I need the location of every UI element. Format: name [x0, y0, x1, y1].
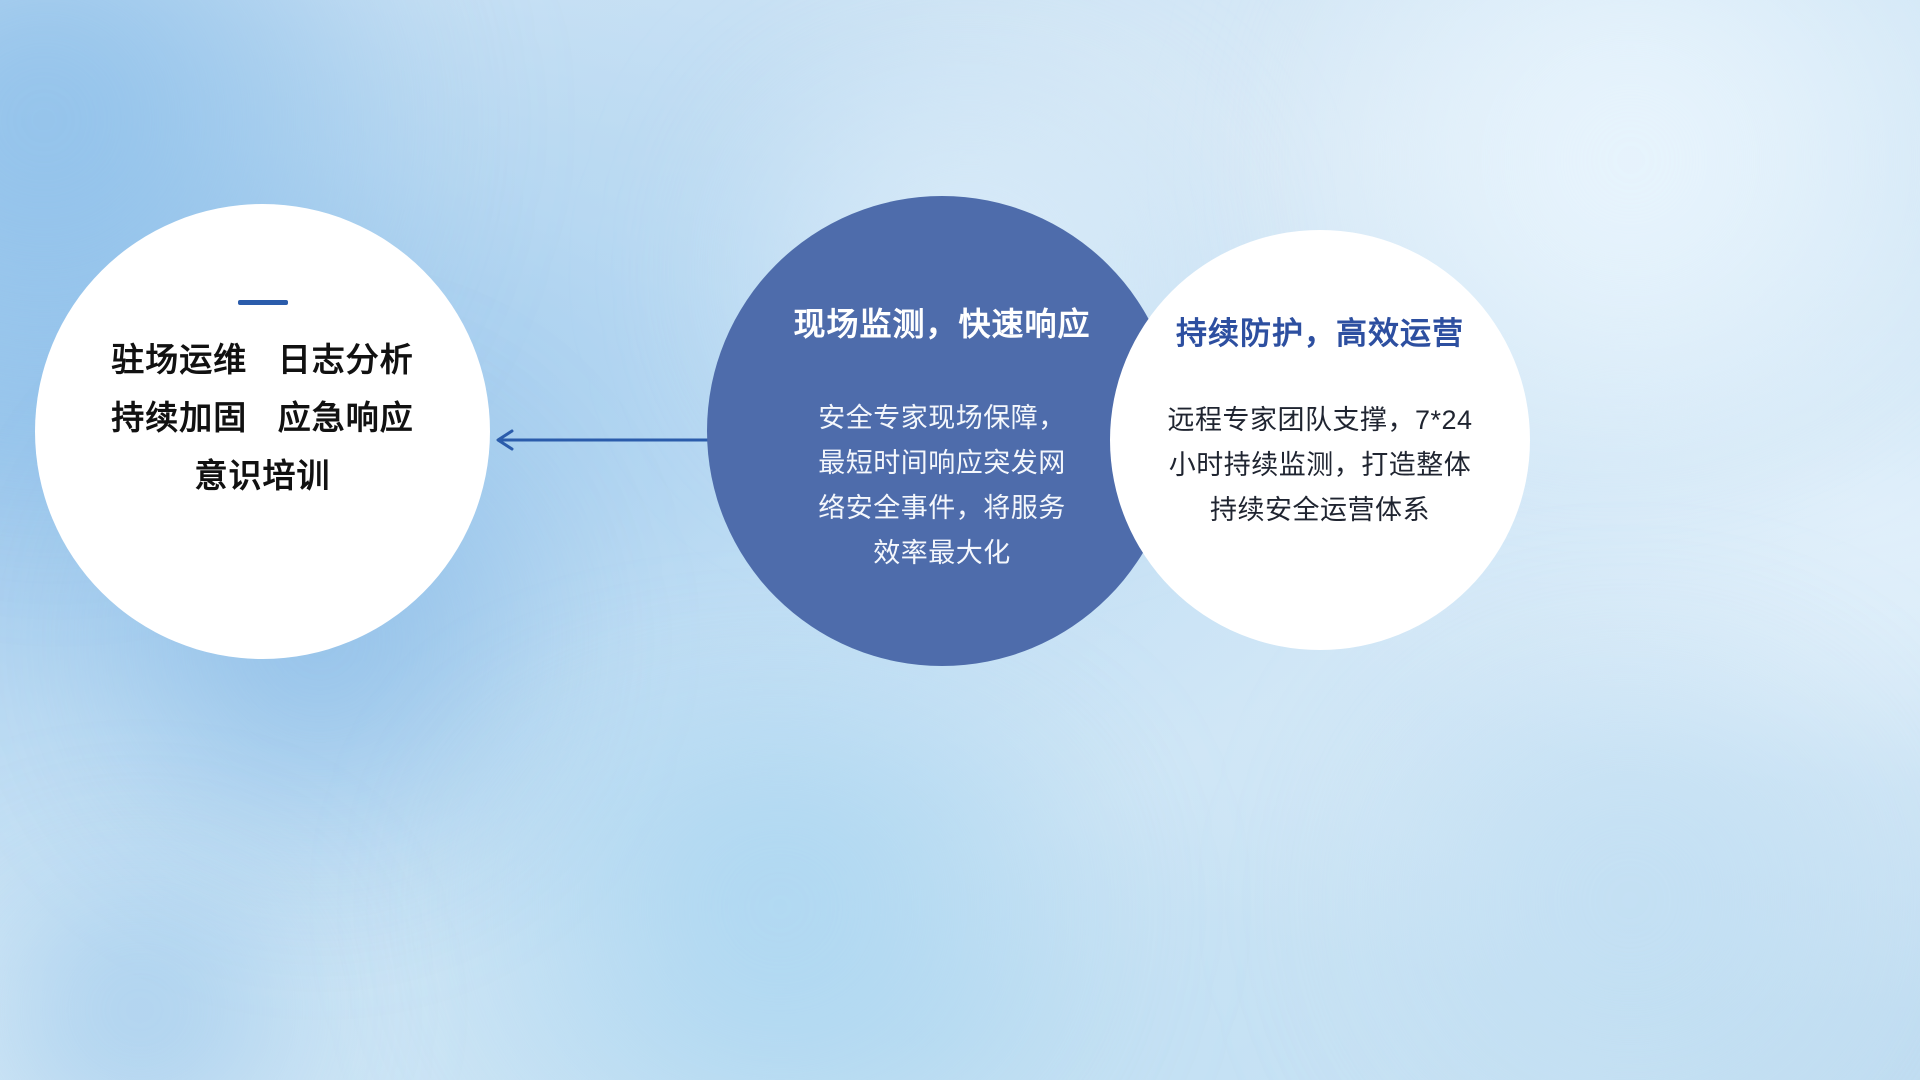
left-keyword-line-3: 意识培训: [35, 459, 490, 492]
middle-onsite-circle[interactable]: 现场监测，快速响应 安全专家现场保障， 最短时间响应突发网 络安全事件，将服务 …: [707, 196, 1177, 666]
middle-circle-title: 现场监测，快速响应: [707, 299, 1177, 345]
middle-body-line-3: 络安全事件，将服务: [754, 486, 1130, 531]
arrow-left-icon: [480, 420, 730, 460]
middle-body-line-1: 安全专家现场保障，: [754, 396, 1130, 441]
background-blob: [1250, 640, 1920, 1080]
background-blob: [330, 700, 1230, 1080]
right-body-line-2: 小时持续监测，打造整体: [1132, 443, 1508, 488]
right-body-line-3: 持续安全运营体系: [1132, 488, 1508, 533]
right-circle-title: 持续防护，高效运营: [1110, 308, 1530, 353]
right-body-line-1: 远程专家团队支撑，7*24: [1132, 398, 1508, 443]
divider-dash-icon: [238, 300, 288, 305]
middle-body-line-4: 效率最大化: [754, 531, 1130, 576]
right-operations-circle[interactable]: 持续防护，高效运营 远程专家团队支撑，7*24 小时持续监测，打造整体 持续安全…: [1110, 230, 1530, 650]
slide-canvas: 驻场运维 日志分析 持续加固 应急响应 意识培训 现场监测，快速响应 安全专家现…: [0, 0, 1920, 1080]
left-keyword-line-2: 持续加固 应急响应: [35, 401, 490, 434]
middle-body-line-2: 最短时间响应突发网: [754, 441, 1130, 486]
left-capability-circle[interactable]: 驻场运维 日志分析 持续加固 应急响应 意识培训: [35, 204, 490, 659]
left-keyword-line-1: 驻场运维 日志分析: [35, 343, 490, 376]
right-circle-body: 远程专家团队支撑，7*24 小时持续监测，打造整体 持续安全运营体系: [1132, 398, 1508, 533]
background-blob: [0, 860, 400, 1080]
middle-circle-body: 安全专家现场保障， 最短时间响应突发网 络安全事件，将服务 效率最大化: [754, 396, 1130, 576]
left-circle-content: 驻场运维 日志分析 持续加固 应急响应 意识培训: [35, 300, 490, 492]
